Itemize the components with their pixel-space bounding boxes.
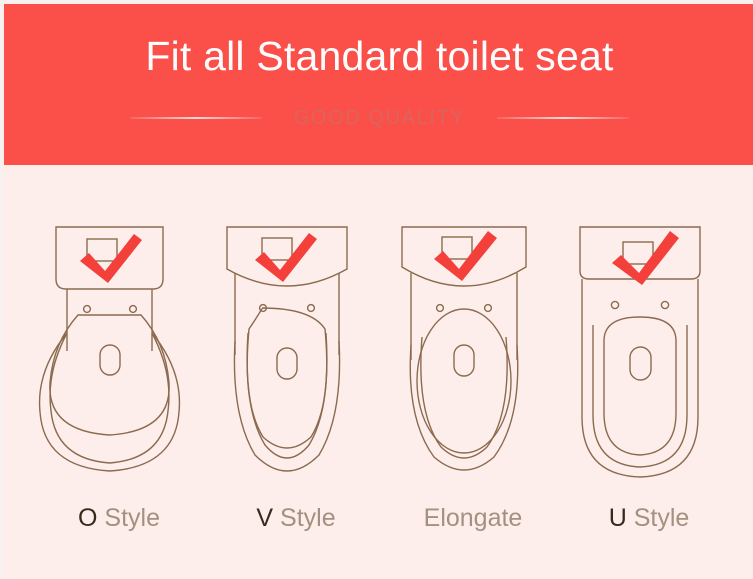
center-oval-o [100, 345, 120, 375]
decorative-line-right [497, 117, 629, 119]
product-grid: O Style [4, 165, 753, 579]
red-checkmark-icon [255, 233, 317, 282]
product-label-v-style: V Style [207, 502, 385, 534]
product-item-u-style[interactable]: U Style [560, 165, 738, 579]
product-label-initial: V [256, 504, 273, 532]
center-oval-e [454, 345, 474, 376]
red-checkmark-icon [612, 231, 679, 285]
mount-hole-right-o [130, 306, 137, 313]
bowl-outer-e [410, 345, 518, 470]
product-label-rest: Style [273, 504, 336, 532]
header-banner: Fit all Standard toilet seat GOOD QUALIT… [4, 4, 753, 165]
seat-inner-v [247, 308, 327, 448]
product-item-o-style[interactable]: O Style [30, 165, 208, 579]
toilet-diagram-u-style [560, 165, 738, 495]
product-banner-page: Fit all Standard toilet seat GOOD QUALIT… [0, 0, 753, 579]
subtitle-row: GOOD QUALITY [4, 102, 753, 134]
center-oval-v [277, 348, 297, 379]
mount-hole-right-v [308, 305, 315, 312]
mount-hole-left-e [437, 305, 444, 312]
seat-ring-u [593, 325, 687, 467]
seat-ring-e [421, 337, 507, 458]
seat-ring-v [247, 333, 327, 458]
seat-ring-o [50, 333, 169, 463]
toilet-diagram-elongate [384, 165, 562, 495]
tank-outline-u [580, 227, 700, 279]
bowl-outer-o [40, 333, 180, 471]
product-label-initial: O [78, 504, 97, 532]
center-oval-u [630, 347, 651, 380]
product-item-v-style[interactable]: V Style [207, 165, 385, 579]
product-label-rest: Style [627, 504, 690, 532]
seat-inner-u [604, 317, 676, 455]
product-label-elongate: Elongate [384, 502, 562, 534]
toilet-diagram-o-style [30, 165, 208, 495]
toilet-diagram-v-style [207, 165, 385, 495]
mount-hole-right-u [661, 301, 668, 308]
decorative-line-left [130, 117, 262, 119]
banner-subtitle: GOOD QUALITY [294, 107, 465, 130]
bowl-outer-u [582, 279, 698, 477]
mount-hole-left-o [84, 306, 91, 313]
red-checkmark-icon [434, 231, 497, 281]
product-label-u-style: U Style [560, 502, 738, 534]
seat-inner-e [417, 309, 511, 453]
mount-hole-left-u [611, 301, 618, 308]
red-checkmark-icon [80, 234, 142, 283]
page-title: Fit all Standard toilet seat [4, 30, 753, 82]
tank-outline-v [227, 227, 347, 286]
mount-hole-right-e [485, 305, 492, 312]
product-item-elongate[interactable]: Elongate [384, 165, 562, 579]
product-label-initial: U [609, 504, 627, 532]
product-label-rest: Elongate [424, 504, 523, 532]
bowl-outer-v [234, 341, 339, 471]
product-label-rest: Style [97, 504, 160, 532]
product-label-o-style: O Style [30, 502, 208, 534]
